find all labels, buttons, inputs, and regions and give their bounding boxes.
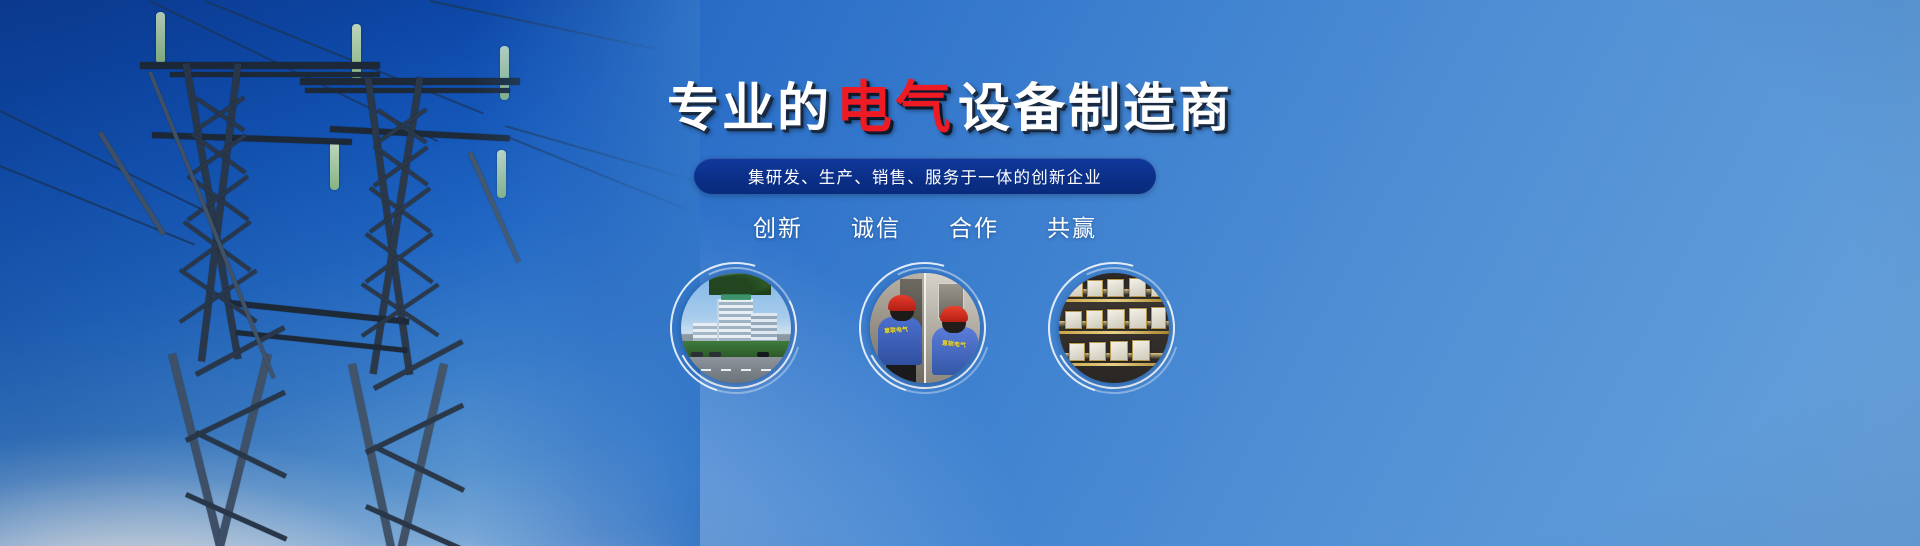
circle-photo-row: 意联电气 意联电气 [650, 262, 1220, 414]
headline-accent-dianqi: 电气 [832, 81, 958, 137]
headline-part-2: 设备制造商 [958, 83, 1233, 135]
uniform-logo-left: 意联电气 [884, 324, 909, 335]
hero-banner: 专业的 电气 设备制造商 集研发、生产、销售、服务于一体的创新企业 创新 诚信 … [0, 0, 1920, 546]
headline-part-1: 专业的 [667, 83, 832, 135]
page-title: 专业的 电气 设备制造商 [690, 78, 1210, 140]
keyword-integrity: 诚信 [851, 209, 901, 243]
circle-photo-office-building [670, 262, 802, 394]
photo-office-building [681, 273, 791, 383]
subtitle-text: 集研发、生产、销售、服务于一体的创新企业 [748, 164, 1102, 188]
keyword-cooperation: 合作 [949, 209, 999, 243]
keyword-innovation: 创新 [753, 209, 803, 243]
background-photo-transmission-tower [0, 0, 700, 546]
keyword-winwin: 共赢 [1047, 209, 1097, 243]
circle-photo-honor-wall [1048, 262, 1180, 394]
circle-photo-workers: 意联电气 意联电气 [859, 262, 991, 394]
photo-workers-installation: 意联电气 意联电气 [870, 273, 980, 383]
photo-honor-display-wall [1059, 273, 1169, 383]
keyword-row: 创新 诚信 合作 共赢 [700, 208, 1150, 244]
subtitle-pill: 集研发、生产、销售、服务于一体的创新企业 [694, 158, 1156, 194]
